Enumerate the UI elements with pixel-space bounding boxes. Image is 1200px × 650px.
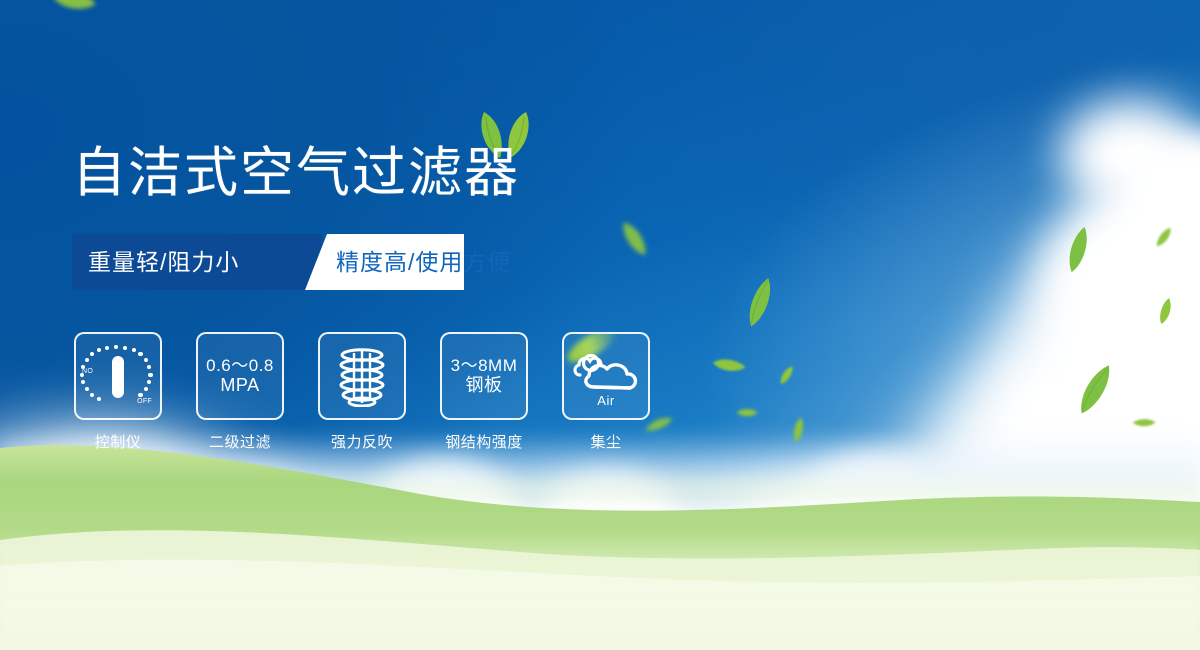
feature-label: 二级过滤 (209, 431, 271, 452)
feature-label: 控制仪 (95, 431, 142, 452)
feature-item-steel[interactable]: 3～8MM 钢板 钢结构强度 (438, 332, 530, 452)
feature-icon-box: NO OFF (74, 332, 162, 420)
filter-coil-icon (333, 345, 391, 407)
tagline-right-label: 精度高/使用方便 (336, 234, 511, 290)
feature-icon-box: Air (562, 332, 650, 420)
feature-icon-box: 0.6～0.8 MPA (196, 332, 284, 420)
feature-icon-box: 3～8MM 钢板 (440, 332, 528, 420)
pressure-unit: MPA (206, 375, 274, 396)
feature-item-blowback[interactable]: 强力反吹 (316, 332, 408, 452)
foreground-light-band (0, 530, 1200, 650)
gauge-icon: NO OFF (81, 339, 155, 413)
tagline-badges: 重量轻/阻力小 精度高/使用方便 (72, 234, 464, 290)
air-label: Air (570, 393, 642, 408)
steel-material: 钢板 (451, 375, 518, 396)
gauge-needle (112, 356, 124, 398)
steel-thickness: 3～8MM (451, 356, 518, 375)
feature-label: 强力反吹 (331, 431, 393, 452)
air-cloud-icon: Air (570, 345, 642, 407)
page-title: 自洁式空气过滤器 (72, 146, 520, 200)
feature-item-pressure[interactable]: 0.6～0.8 MPA 二级过滤 (194, 332, 286, 452)
pressure-value: 0.6～0.8 (206, 356, 274, 375)
pressure-icon: 0.6～0.8 MPA (206, 356, 274, 396)
feature-label: 钢结构强度 (445, 431, 523, 452)
feature-item-dust[interactable]: Air 集尘 (560, 332, 652, 452)
cloud-puff (1060, 100, 1200, 210)
gauge-off-label: OFF (137, 398, 152, 405)
feature-icon-box (318, 332, 406, 420)
product-banner: 自洁式空气过滤器 重量轻/阻力小 精度高/使用方便 NO OFF (0, 0, 1200, 650)
tagline-left-label: 重量轻/阻力小 (88, 234, 239, 290)
feature-list: NO OFF (72, 332, 652, 452)
feature-label: 集尘 (590, 431, 621, 452)
feature-item-controller[interactable]: NO OFF (72, 332, 164, 452)
steel-plate-icon: 3～8MM 钢板 (451, 356, 518, 396)
